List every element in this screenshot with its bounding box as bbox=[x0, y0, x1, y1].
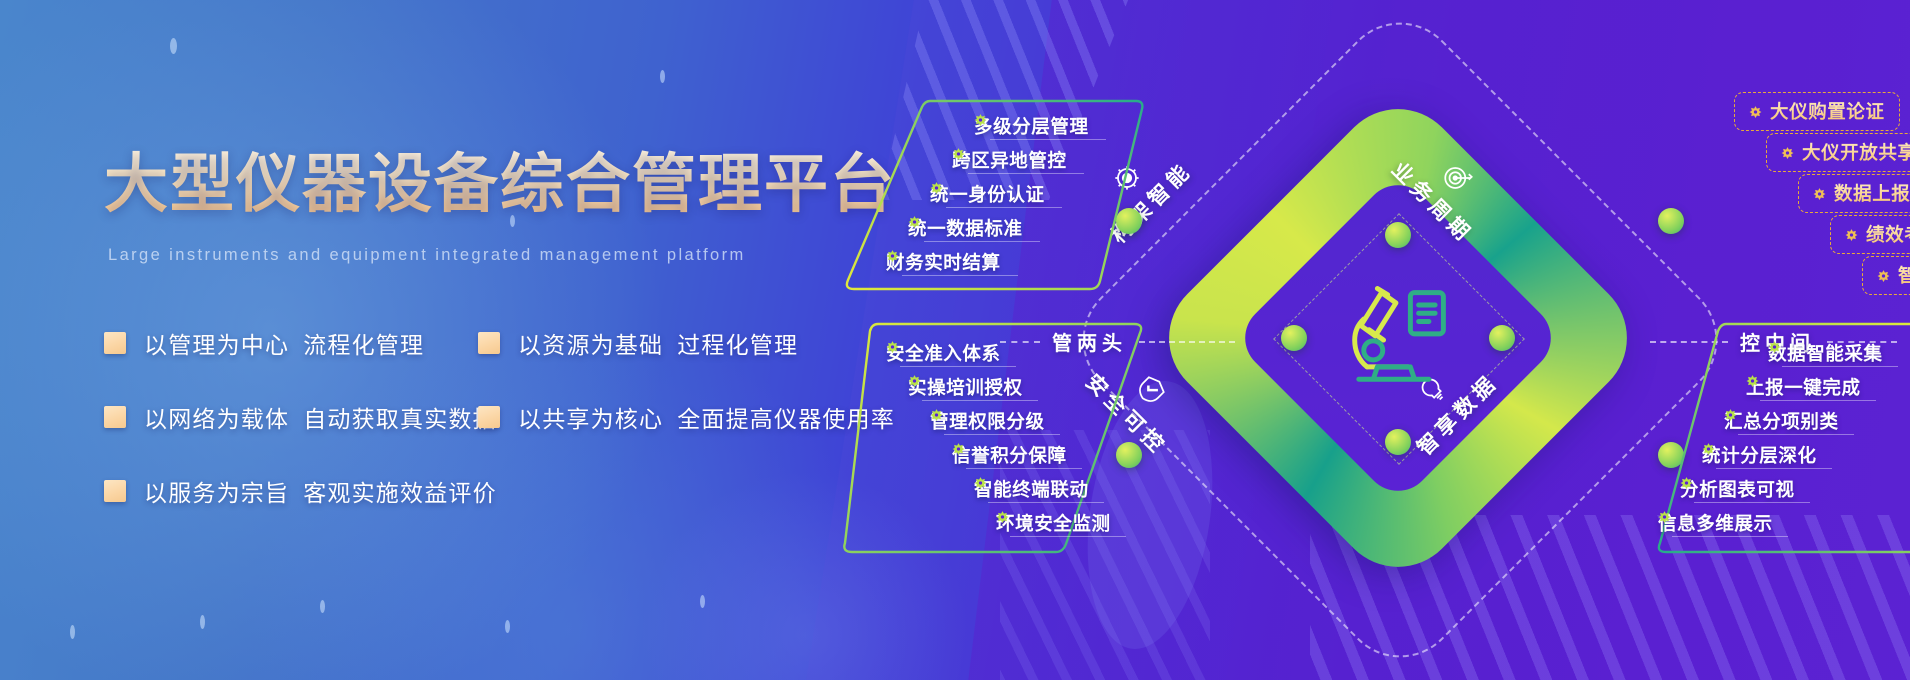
spark-particle bbox=[320, 600, 325, 613]
page-title: 大型仪器设备综合管理平台 bbox=[104, 133, 896, 225]
feature-item: 以共享为核心全面提高仪器使用率 bbox=[478, 400, 895, 434]
badge-item[interactable]: 大仪购置论证 bbox=[1734, 92, 1900, 131]
flower-star-icon bbox=[974, 113, 987, 126]
flower-star-icon bbox=[1702, 442, 1715, 455]
list-item[interactable]: 实操培训授权 bbox=[908, 374, 1023, 400]
list-item[interactable]: 数据智能采集 bbox=[1768, 340, 1883, 366]
flower-star-icon bbox=[1845, 228, 1858, 241]
bullet-square-icon bbox=[478, 332, 500, 354]
list-item-label: 信誉积分保障 bbox=[952, 442, 1067, 468]
list-item[interactable]: 财务实时结算 bbox=[886, 249, 1001, 275]
list-item[interactable]: 智能终端联动 bbox=[974, 476, 1089, 502]
diagram-node bbox=[1385, 429, 1411, 455]
bullet-square-icon bbox=[104, 480, 126, 502]
spark-particle bbox=[700, 595, 705, 608]
flower-star-icon bbox=[1746, 374, 1759, 387]
bullet-square-icon bbox=[104, 406, 126, 428]
list-item-label: 安全准入体系 bbox=[886, 340, 1001, 366]
flower-star-icon bbox=[908, 374, 921, 387]
list-item[interactable]: 统一身份认证 bbox=[930, 181, 1045, 207]
flower-star-icon bbox=[952, 442, 965, 455]
flower-star-icon bbox=[996, 510, 1009, 523]
list-item[interactable]: 环境安全监测 bbox=[996, 510, 1111, 536]
feature-item: 以资源为基础过程化管理 bbox=[478, 326, 798, 360]
list-item[interactable]: 上报一键完成 bbox=[1746, 374, 1861, 400]
list-item-label: 上报一键完成 bbox=[1746, 374, 1861, 400]
flower-star-icon bbox=[1768, 340, 1781, 353]
badge-label: 大仪购置论证 bbox=[1770, 98, 1885, 124]
list-item-label: 统一数据标准 bbox=[908, 215, 1023, 241]
flower-star-icon bbox=[1658, 510, 1671, 523]
spark-particle bbox=[200, 615, 205, 629]
diagram-node bbox=[1489, 325, 1515, 351]
feature-item: 以服务为宗旨客观实施效益评价 bbox=[104, 474, 478, 508]
badge-item[interactable]: 智慧移动互联 bbox=[1862, 256, 1910, 295]
panel-top-left: 多级分层管理 跨区异地管控 统一身份认证 统一数据标准 bbox=[838, 95, 1148, 295]
list-item-label: 跨区异地管控 bbox=[952, 147, 1067, 173]
flower-star-icon bbox=[1680, 476, 1693, 489]
spark-particle bbox=[170, 38, 177, 54]
list-item[interactable]: 信息多维展示 bbox=[1658, 510, 1773, 536]
flower-star-icon bbox=[930, 408, 943, 421]
flower-star-icon bbox=[886, 340, 899, 353]
badge-label: 数据上报管理 bbox=[1834, 180, 1910, 206]
diagram-node bbox=[1385, 222, 1411, 248]
feature-text: 以网络为载体自动获取真实数据 bbox=[144, 400, 497, 434]
list-item-label: 财务实时结算 bbox=[886, 249, 1001, 275]
badge-item[interactable]: 大仪开放共享 bbox=[1766, 133, 1910, 172]
flower-star-icon bbox=[974, 476, 987, 489]
list-item-label: 数据智能采集 bbox=[1768, 340, 1883, 366]
list-item-label: 统一身份认证 bbox=[930, 181, 1045, 207]
flower-star-icon bbox=[1749, 105, 1762, 118]
spark-particle bbox=[70, 625, 75, 639]
diagram-node bbox=[1281, 325, 1307, 351]
panel-bottom-right: 数据智能采集 上报一键完成 汇总分项别类 统计分层深化 bbox=[1650, 318, 1910, 558]
list-item[interactable]: 统一数据标准 bbox=[908, 215, 1023, 241]
list-item-label: 智能终端联动 bbox=[974, 476, 1089, 502]
banner-stage: 大型仪器设备综合管理平台 Large instruments and equip… bbox=[0, 0, 1910, 680]
list-item-label: 环境安全监测 bbox=[996, 510, 1111, 536]
list-item-label: 统计分层深化 bbox=[1702, 442, 1817, 468]
list-item[interactable]: 安全准入体系 bbox=[886, 340, 1001, 366]
feature-item: 以管理为中心流程化管理 bbox=[104, 326, 478, 360]
list-item-label: 分析图表可视 bbox=[1680, 476, 1795, 502]
feature-item: 以网络为载体自动获取真实数据 bbox=[104, 400, 478, 434]
list-item-label: 汇总分项别类 bbox=[1724, 408, 1839, 434]
list-item[interactable]: 汇总分项别类 bbox=[1724, 408, 1839, 434]
dash-line bbox=[1139, 341, 1235, 343]
list-item-label: 信息多维展示 bbox=[1658, 510, 1773, 536]
flower-star-icon bbox=[908, 215, 921, 228]
diagram-node bbox=[1658, 208, 1684, 234]
microscope-icon bbox=[1332, 272, 1464, 404]
bullet-square-icon bbox=[104, 332, 126, 354]
spark-particle bbox=[505, 620, 510, 633]
flower-star-icon bbox=[1781, 146, 1794, 159]
feature-text: 以资源为基础过程化管理 bbox=[518, 326, 798, 360]
spark-particle bbox=[660, 70, 665, 83]
list-item-label: 管理权限分级 bbox=[930, 408, 1045, 434]
flower-star-icon bbox=[952, 147, 965, 160]
badge-item[interactable]: 绩效考核管理 bbox=[1830, 215, 1910, 254]
list-item-label: 实操培训授权 bbox=[908, 374, 1023, 400]
flower-star-icon bbox=[1877, 269, 1890, 282]
list-item[interactable]: 统计分层深化 bbox=[1702, 442, 1817, 468]
flower-star-icon bbox=[1813, 187, 1826, 200]
capability-diagram: 构架智能 业务周期 安全可控 智享数据 bbox=[1010, 40, 1910, 640]
feature-text: 以管理为中心流程化管理 bbox=[144, 326, 424, 360]
list-item[interactable]: 管理权限分级 bbox=[930, 408, 1045, 434]
page-subtitle: Large instruments and equipment integrat… bbox=[108, 246, 746, 265]
flower-star-icon bbox=[930, 181, 943, 194]
badge-label: 绩效考核管理 bbox=[1866, 221, 1910, 247]
panel-bottom-left: 安全准入体系 实操培训授权 管理权限分级 信誉积分保障 bbox=[838, 318, 1148, 558]
badge-label: 智慧移动互联 bbox=[1898, 262, 1910, 288]
list-item[interactable]: 多级分层管理 bbox=[974, 113, 1089, 139]
list-item[interactable]: 信誉积分保障 bbox=[952, 442, 1067, 468]
badge-item[interactable]: 数据上报管理 bbox=[1798, 174, 1910, 213]
list-item-label: 多级分层管理 bbox=[974, 113, 1089, 139]
flower-star-icon bbox=[886, 249, 899, 262]
list-item[interactable]: 跨区异地管控 bbox=[952, 147, 1067, 173]
badge-label: 大仪开放共享 bbox=[1802, 139, 1910, 165]
bullet-square-icon bbox=[478, 406, 500, 428]
flower-star-icon bbox=[1724, 408, 1737, 421]
feature-text: 以服务为宗旨客观实施效益评价 bbox=[144, 474, 497, 508]
list-item[interactable]: 分析图表可视 bbox=[1680, 476, 1795, 502]
